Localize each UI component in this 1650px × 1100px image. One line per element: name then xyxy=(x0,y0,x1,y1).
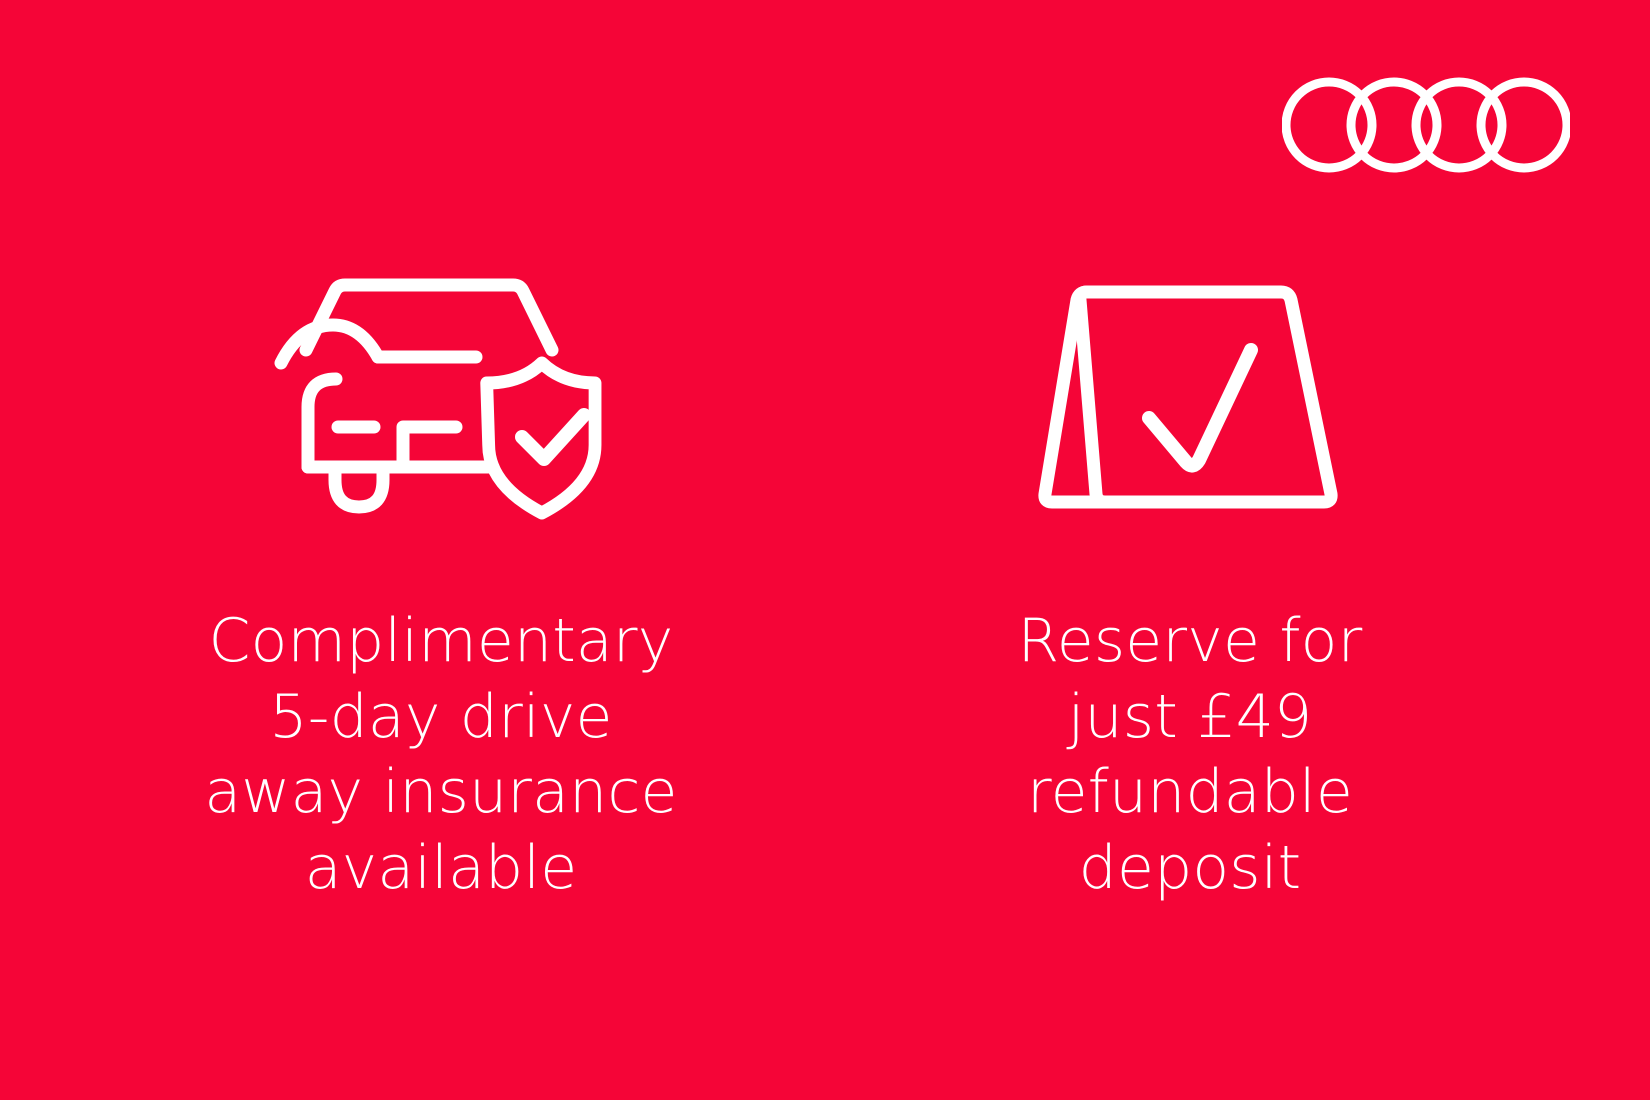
promo-banner: Complimentary 5-day drive away insurance… xyxy=(0,0,1650,1100)
car-with-shield-icon xyxy=(278,250,608,540)
feature-deposit: Reserve for just £49 refundable deposit xyxy=(830,250,1530,906)
audi-four-rings-logo xyxy=(1282,72,1570,178)
insurance-caption-text: Complimentary 5-day drive away insurance… xyxy=(131,604,751,906)
deposit-caption-text: Reserve for just £49 refundable deposit xyxy=(960,604,1420,906)
feature-insurance: Complimentary 5-day drive away insurance… xyxy=(90,250,790,906)
calendar-tent-check-icon xyxy=(1039,250,1339,540)
